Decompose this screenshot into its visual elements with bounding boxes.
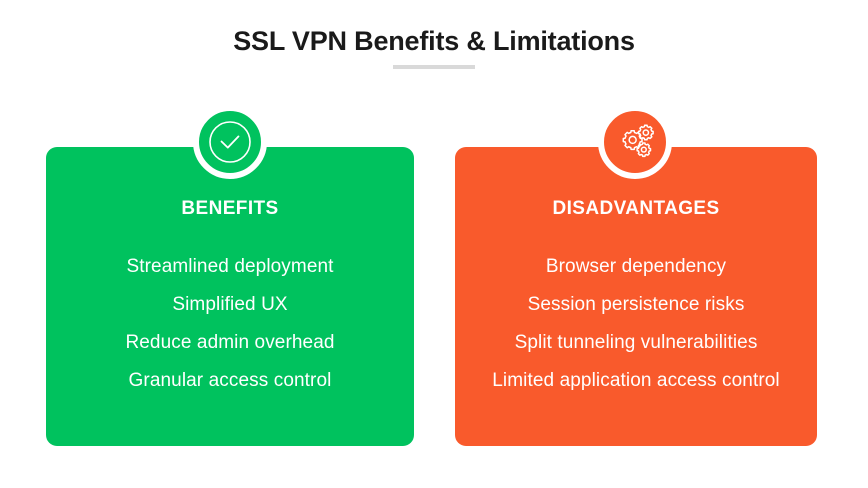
list-item: Limited application access control: [455, 362, 817, 400]
page-title: SSL VPN Benefits & Limitations: [0, 25, 868, 57]
list-item: Streamlined deployment: [46, 248, 414, 286]
gears-icon: [612, 119, 658, 165]
card-heading-benefits: BENEFITS: [46, 197, 414, 221]
slide-canvas: SSL VPN Benefits & Limitations BENEFITS …: [0, 0, 868, 488]
list-item: Simplified UX: [46, 286, 414, 324]
list-item: Split tunneling vulnerabilities: [455, 324, 817, 362]
list-item: Session persistence risks: [455, 286, 817, 324]
badge-benefits: [193, 105, 267, 179]
list-item: Reduce admin overhead: [46, 324, 414, 362]
card-disadvantages: DISADVANTAGES Browser dependency Session…: [455, 147, 817, 446]
title-divider: [393, 65, 475, 69]
list-item: Browser dependency: [455, 248, 817, 286]
badge-disadvantages: [598, 105, 672, 179]
disadvantages-list: Browser dependency Session persistence r…: [455, 248, 817, 400]
list-item: Granular access control: [46, 362, 414, 400]
benefits-list: Streamlined deployment Simplified UX Red…: [46, 248, 414, 400]
card-heading-disadvantages: DISADVANTAGES: [455, 197, 817, 221]
card-benefits: BENEFITS Streamlined deployment Simplifi…: [46, 147, 414, 446]
check-circle-icon: [207, 119, 253, 165]
